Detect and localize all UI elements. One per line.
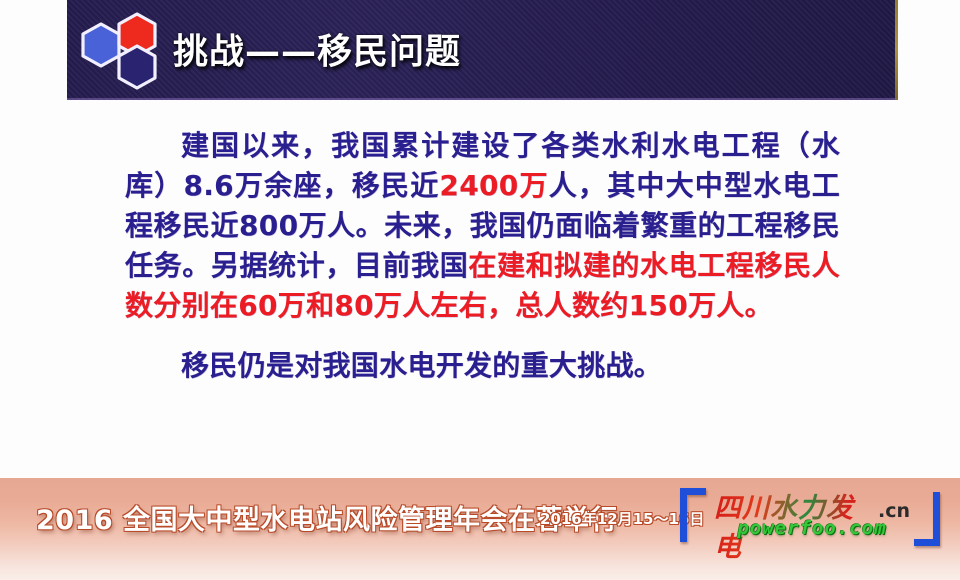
body-paragraph-1: 建国以来，我国累计建设了各类水利水电工程（水库）8.6万余座，移民近2400万人… xyxy=(125,126,840,326)
page-title: 挑战——移民问题 xyxy=(173,23,461,74)
bracket-right-icon xyxy=(914,492,940,546)
body-paragraph-2: 移民仍是对我国水电开发的重大挑战。 xyxy=(125,346,840,386)
slide-canvas: 挑战——移民问题 建国以来，我国累计建设了各类水利水电工程（水库）8.6万余座，… xyxy=(0,0,960,580)
footer-banner: 2016 全国大中型水电站风险管理年会在蓉举行 2016年12月15～16日 四… xyxy=(0,478,960,580)
slide-header-band: 挑战——移民问题 xyxy=(67,0,898,100)
site-logo[interactable]: 四川水力发电 .cn powerfoo.com xyxy=(676,486,944,548)
site-logo-domain: powerfoo.com xyxy=(714,517,910,539)
banner-title: 2016 全国大中型水电站风险管理年会在蓉举行 xyxy=(36,498,618,537)
bracket-left-icon xyxy=(680,488,706,542)
slide-body: 建国以来，我国累计建设了各类水利水电工程（水库）8.6万余座，移民近2400万人… xyxy=(125,126,840,386)
body-highlight-2400: 2400万 xyxy=(439,169,548,202)
hexagon-cluster-icon xyxy=(75,6,171,94)
